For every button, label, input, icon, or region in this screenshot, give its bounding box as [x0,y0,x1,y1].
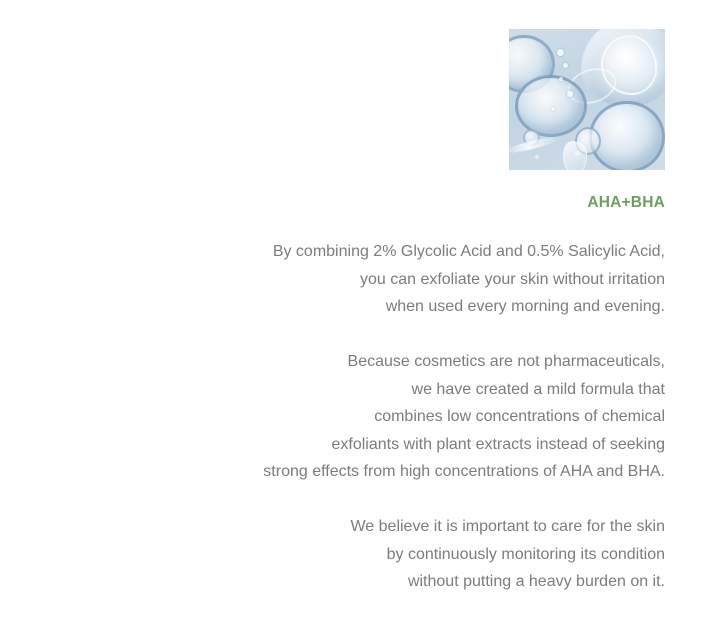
bubble-dot-7 [535,155,539,159]
bubble-dot-4 [567,91,573,97]
bubble-large-mid-left [515,75,587,137]
water-bubbles-image [509,29,665,170]
bubble-large-bottom-right [589,101,665,170]
water-shard-shape [563,141,587,170]
bubble-dot-5 [551,107,555,111]
description-paragraphs: By combining 2% Glycolic Acid and 0.5% S… [0,238,665,596]
bubble-dot-2 [563,63,568,68]
ingredient-description-block: AHA+BHA By combining 2% Glycolic Acid an… [0,190,665,596]
bubble-dot-3 [559,77,563,81]
paragraph-formulation: Because cosmetics are not pharmaceutical… [0,348,665,486]
section-title-aha-bha: AHA+BHA [0,190,665,216]
paragraph-usage: By combining 2% Glycolic Acid and 0.5% S… [0,238,665,321]
bubble-dot-1 [557,49,564,56]
product-info-page: AHA+BHA By combining 2% Glycolic Acid an… [0,0,710,627]
paragraph-philosophy: We believe it is important to care for t… [0,513,665,596]
